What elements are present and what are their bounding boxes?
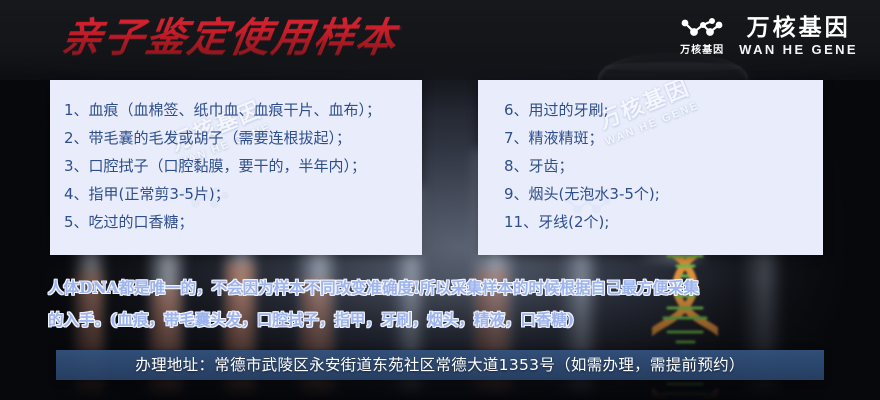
list-item: 3、口腔拭子（口腔黏膜，要干的，半年内）；: [64, 152, 422, 180]
note-line-1: 人体DNA都是唯一的，不会因为样本不同改变准确度!所以采集样本的时候根据自己最方…: [48, 272, 838, 304]
list-item: 8、牙齿；: [504, 152, 823, 180]
sample-list-left: 1、血痕（血棉签、纸巾血、血痕干片、血布）； 2、带毛囊的毛发或胡子（需要连根拔…: [50, 80, 422, 236]
sample-list-panel-right: 万核基因 WAN HE GENE 6、用过的牙刷; 7、精液精斑； 8、牙齿； …: [478, 80, 823, 255]
brand-name: 万核基因 WAN HE GENE: [739, 14, 858, 57]
list-item: 7、精液精斑；: [504, 124, 823, 152]
brand-logo: 万核基因 万核基因 WAN HE GENE: [679, 14, 858, 57]
brand-mark-label: 万核基因: [680, 45, 724, 56]
brand-mark: 万核基因: [679, 16, 725, 56]
page-title: 亲子鉴定使用样本: [58, 12, 402, 64]
brand-name-cn: 万核基因: [747, 14, 851, 40]
sample-list-right: 6、用过的牙刷; 7、精液精斑； 8、牙齿； 9、烟头(无泡水3-5个); 11…: [478, 80, 823, 236]
note-paragraph: 人体DNA都是唯一的，不会因为样本不同改变准确度!所以采集样本的时候根据自己最方…: [48, 272, 838, 336]
brand-name-en: WAN HE GENE: [739, 42, 858, 57]
list-item: 9、烟头(无泡水3-5个);: [504, 180, 823, 208]
sample-list-panel-left: 万核基因 WAN HE GENE 1、血痕（血棉签、纸巾血、血痕干片、血布）； …: [50, 80, 422, 255]
address-bar: 办理地址：常德市武陵区永安街道东苑社区常德大道1353号（如需办理，需提前预约）: [56, 350, 824, 380]
list-item: 1、血痕（血棉签、纸巾血、血痕干片、血布）；: [64, 96, 422, 124]
list-item: 4、指甲(正常剪3-5片)；: [64, 180, 422, 208]
list-item: 5、吃过的口香糖；: [64, 208, 422, 236]
molecule-icon: [679, 16, 725, 42]
list-item: 6、用过的牙刷;: [504, 96, 823, 124]
poster: 亲子鉴定使用样本: [0, 0, 880, 400]
header: 亲子鉴定使用样本: [0, 0, 880, 80]
list-item: 2、带毛囊的毛发或胡子（需要连根拔起）；: [64, 124, 422, 152]
address-text: 办理地址：常德市武陵区永安街道东苑社区常德大道1353号（如需办理，需提前预约）: [135, 356, 744, 374]
note-line-2: 的入手。(血痕，带毛囊头发，口腔拭子，指甲，牙刷，烟头，精液，口香糖): [48, 304, 838, 336]
list-item: 11、牙线(2个);: [504, 208, 823, 236]
